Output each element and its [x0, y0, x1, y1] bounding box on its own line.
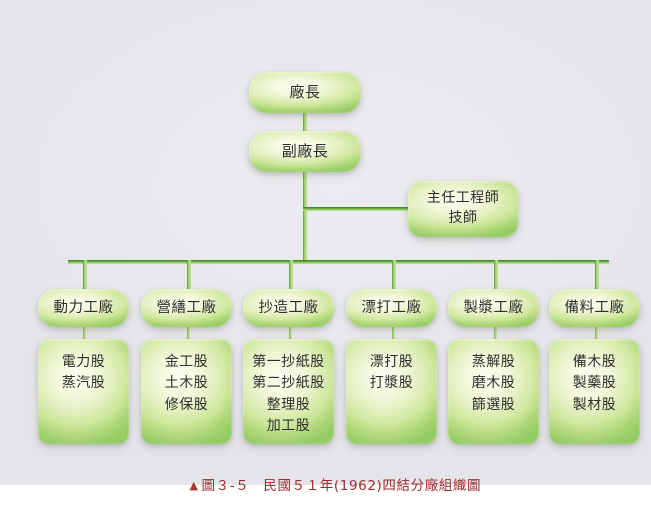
connector-bus-drop-3 [289, 260, 293, 289]
node-units-4[interactable]: 漂打股 打漿股 [346, 339, 437, 444]
node-deputy-director-label: 副廠長 [249, 141, 361, 162]
node-deputy-director[interactable]: 副廠長 [249, 131, 361, 172]
node-department-3-label: 抄造工廠 [243, 298, 334, 319]
connector-dept-to-units-5 [494, 326, 497, 340]
node-department-5-label: 製漿工廠 [448, 298, 539, 319]
node-department-1-label: 動力工廠 [38, 298, 129, 319]
node-units-2-label: 金工股 土木股 修保股 [141, 339, 232, 416]
node-department-6[interactable]: 備料工廠 [549, 289, 640, 327]
node-chief-engineer-label: 主任工程師 技師 [408, 189, 518, 229]
node-department-2[interactable]: 營繕工廠 [141, 289, 232, 327]
figure-caption: ▲圖３-５ 民國５１年(1962)四結分廠組織圖 [0, 458, 651, 510]
connector-bus-drop-6 [595, 260, 599, 289]
node-units-3-label: 第一抄紙股 第二抄紙股 整理股 加工股 [243, 339, 334, 437]
connector-dept-to-units-6 [595, 326, 598, 340]
node-department-3[interactable]: 抄造工廠 [243, 289, 334, 327]
connector-staff-branch [303, 207, 410, 211]
connector-dept-to-units-2 [187, 326, 190, 340]
node-department-4[interactable]: 漂打工廠 [346, 289, 437, 327]
node-units-3[interactable]: 第一抄紙股 第二抄紙股 整理股 加工股 [243, 339, 334, 444]
connector-dept-to-units-3 [289, 326, 292, 340]
connector-deputy-down [303, 171, 307, 262]
node-units-6-label: 備木股 製藥股 製材股 [549, 339, 640, 416]
node-units-4-label: 漂打股 打漿股 [346, 339, 437, 395]
node-factory-director[interactable]: 廠長 [249, 72, 361, 113]
node-units-2[interactable]: 金工股 土木股 修保股 [141, 339, 232, 444]
connector-bus-drop-1 [83, 260, 87, 289]
connector-dept-to-units-4 [392, 326, 395, 340]
connector-bus-drop-2 [187, 260, 191, 289]
node-department-1[interactable]: 動力工廠 [38, 289, 129, 327]
connector-bus-drop-5 [494, 260, 498, 289]
node-department-4-label: 漂打工廠 [346, 298, 437, 319]
org-chart-figure: 廠長 副廠長 主任工程師 技師 動力工廠 營繕工廠 抄造工廠 漂打工廠 製漿工廠… [0, 0, 651, 485]
connector-department-bus [68, 260, 609, 264]
node-department-5[interactable]: 製漿工廠 [448, 289, 539, 327]
node-units-5[interactable]: 蒸解股 磨木股 篩選股 [448, 339, 539, 444]
node-chief-engineer[interactable]: 主任工程師 技師 [408, 181, 518, 237]
node-units-1[interactable]: 電力股 蒸汽股 [38, 339, 129, 444]
caption-text: 圖３-５ 民國５１年(1962)四結分廠組織圖 [202, 478, 482, 494]
node-units-1-label: 電力股 蒸汽股 [38, 339, 129, 395]
node-department-6-label: 備料工廠 [549, 298, 640, 319]
caption-triangle-icon: ▲ [189, 479, 198, 492]
node-units-6[interactable]: 備木股 製藥股 製材股 [549, 339, 640, 444]
node-units-5-label: 蒸解股 磨木股 篩選股 [448, 339, 539, 416]
connector-dept-to-units-1 [83, 326, 86, 340]
connector-bus-drop-4 [392, 260, 396, 289]
node-factory-director-label: 廠長 [249, 82, 361, 103]
node-department-2-label: 營繕工廠 [141, 298, 232, 319]
